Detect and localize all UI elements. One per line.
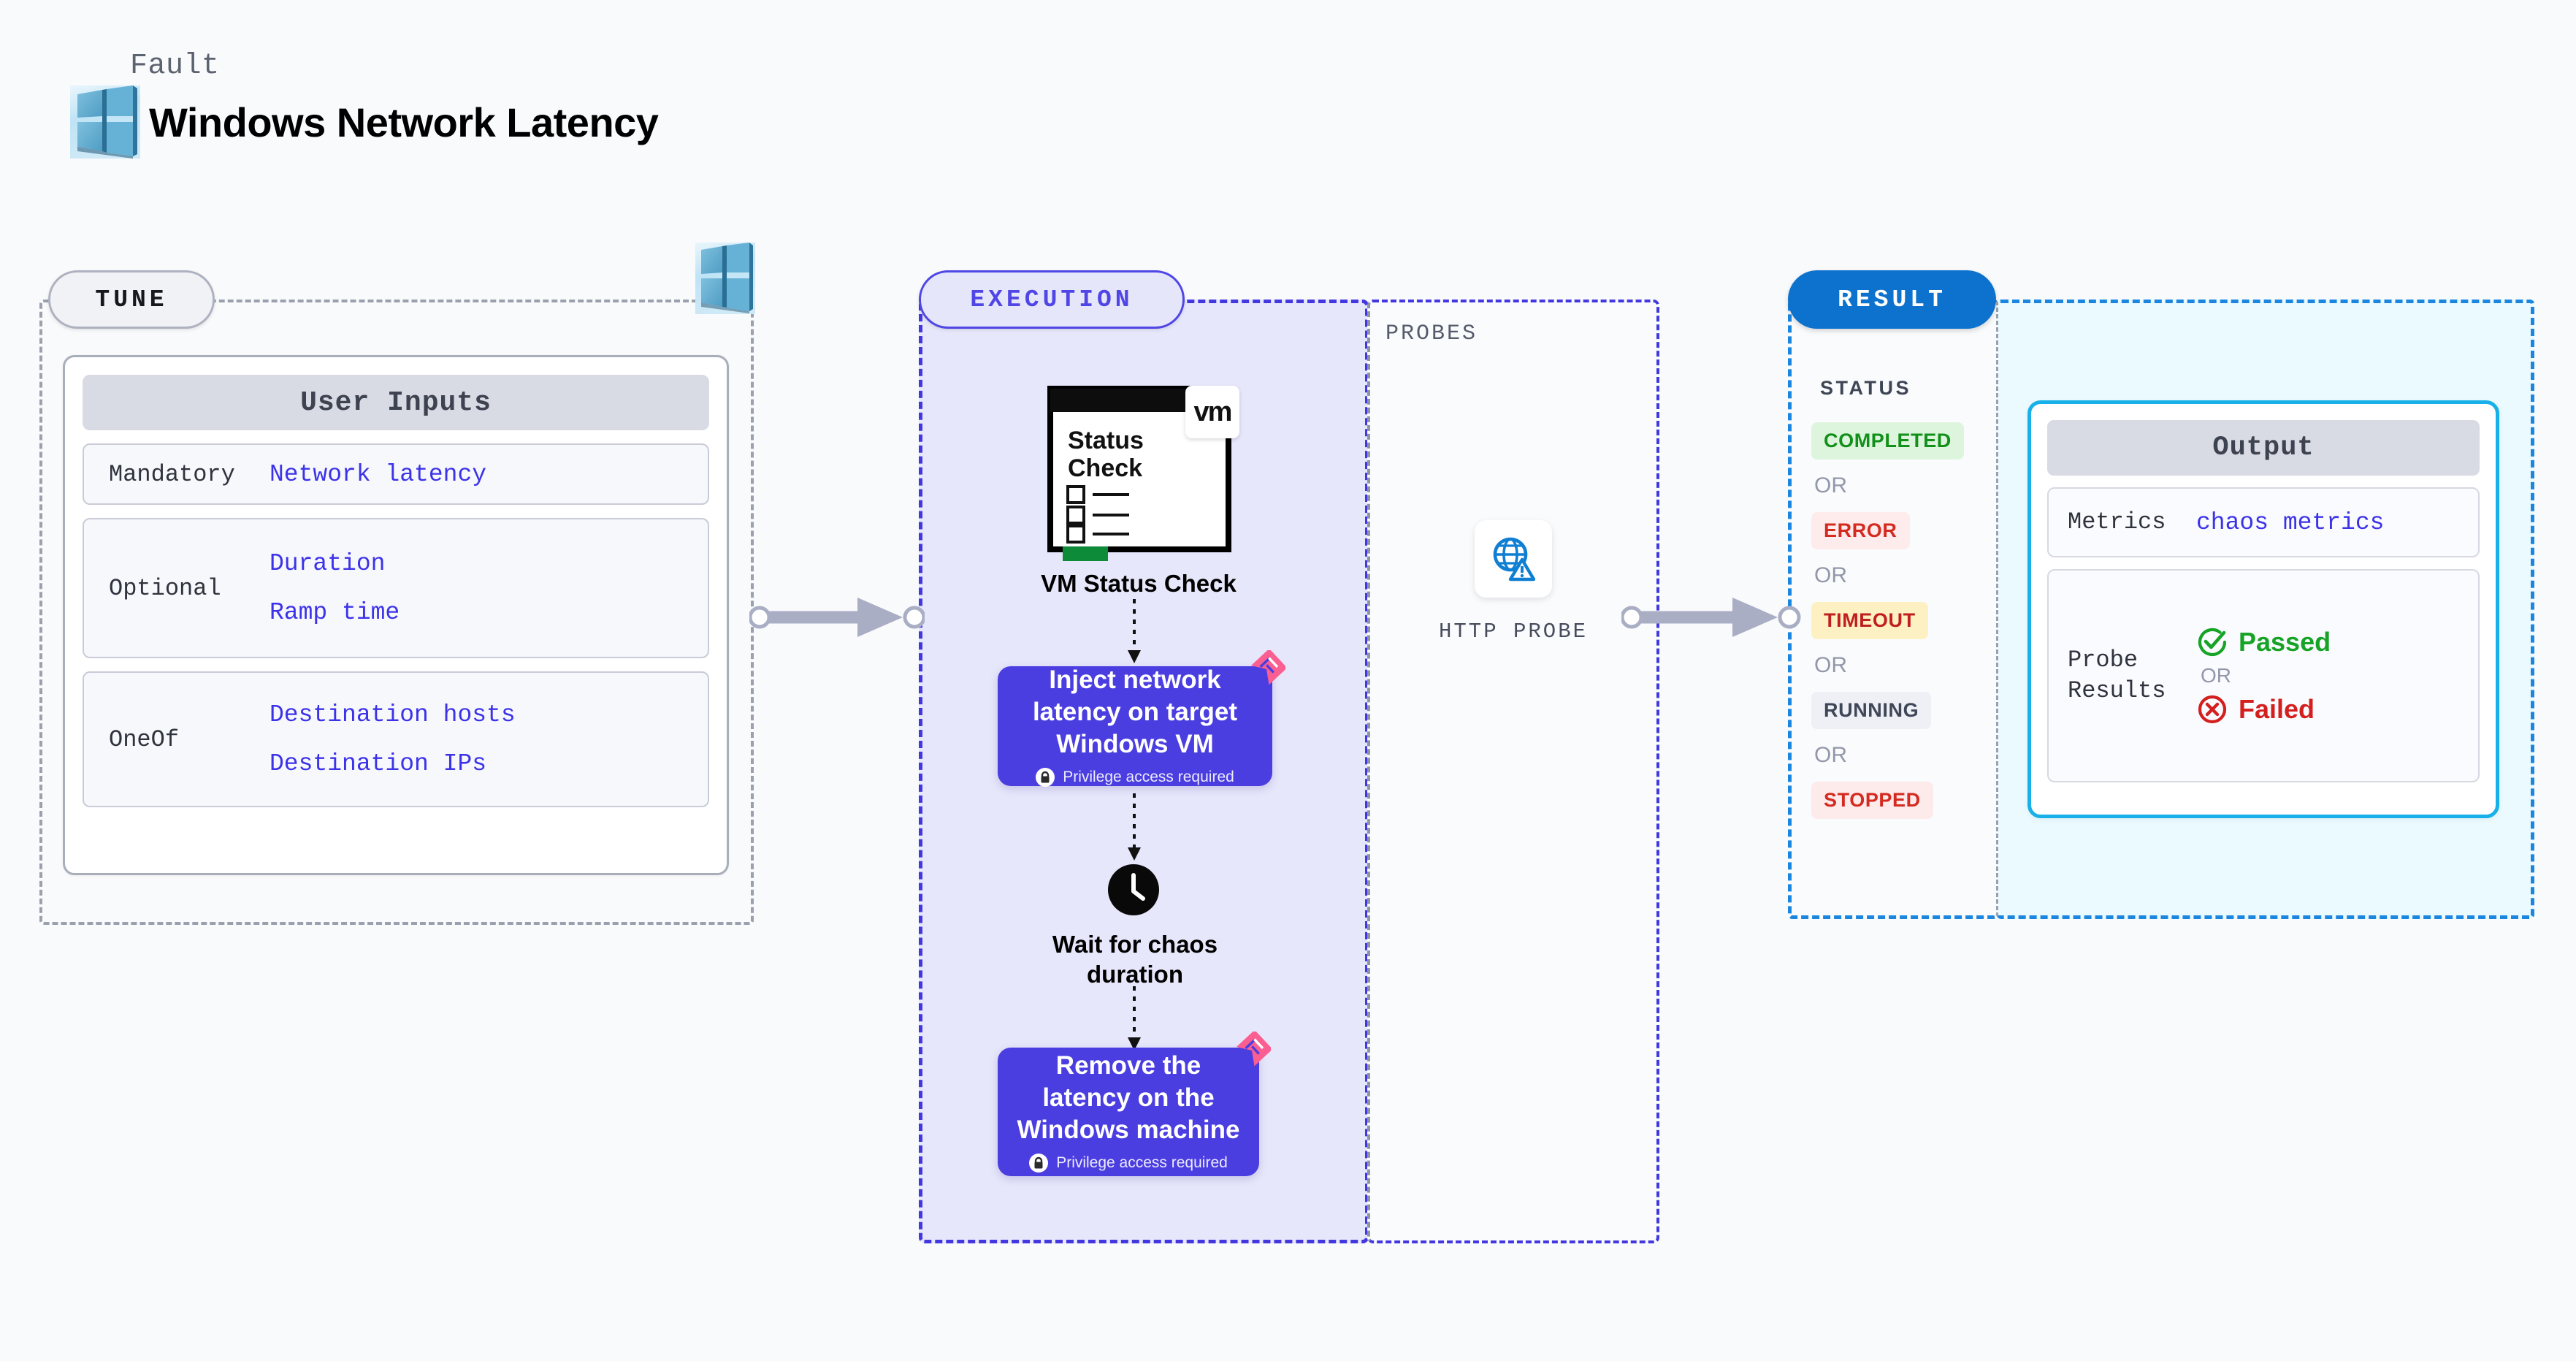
output-title: Output xyxy=(2047,420,2480,476)
vmware-vm-badge-icon: vm xyxy=(1185,386,1239,438)
svg-text:Status: Status xyxy=(1068,427,1144,454)
tune-row-optional: Optional Duration Ramp time xyxy=(83,518,709,658)
page-title: Windows Network Latency xyxy=(149,99,658,146)
result-badge[interactable]: RESULT xyxy=(1788,270,1996,329)
flow-arrow-1 xyxy=(1123,599,1145,666)
probes-title: PROBES xyxy=(1386,321,1478,346)
status-list: COMPLETED OR ERROR OR TIMEOUT OR RUNNING… xyxy=(1811,422,1994,819)
ribbon-tag-icon xyxy=(1247,650,1285,688)
green-status-bar xyxy=(1063,546,1108,561)
probes-panel xyxy=(1367,300,1659,1243)
privilege-row: Privilege access required xyxy=(1036,768,1234,787)
windows-logo-icon-tune xyxy=(695,243,755,314)
http-probe-icon-tile[interactable] xyxy=(1475,520,1552,598)
status-badge-stopped: STOPPED xyxy=(1811,782,1933,819)
node-label-wait-duration: Wait for chaos duration xyxy=(1004,929,1266,990)
title-row: Windows Network Latency xyxy=(70,84,658,160)
clock-icon xyxy=(1107,864,1160,916)
flow-arrow-3 xyxy=(1123,986,1145,1053)
row-value[interactable]: Duration xyxy=(270,550,400,577)
ribbon-tag-icon xyxy=(1233,1032,1271,1070)
page-header: Fault Windows N xyxy=(70,50,658,160)
output-label-metrics: Metrics xyxy=(2068,507,2196,538)
status-badge-error: ERROR xyxy=(1811,512,1910,549)
action-card-title: Remove the latency on the Windows machin… xyxy=(1017,1050,1240,1146)
status-badge-timeout: TIMEOUT xyxy=(1811,602,1928,639)
privilege-text: Privilege access required xyxy=(1063,769,1234,786)
or-separator: OR xyxy=(1814,473,1994,498)
probe-or-separator: OR xyxy=(2201,664,2331,687)
probes-to-result-arrow xyxy=(1621,592,1803,643)
action-card-remove-latency[interactable]: Remove the latency on the Windows machin… xyxy=(998,1048,1259,1176)
row-value[interactable]: Destination hosts xyxy=(270,701,516,728)
flow-arrow-2 xyxy=(1123,793,1145,864)
output-label-probe-results: Probe Results xyxy=(2068,645,2196,706)
row-label: OneOf xyxy=(109,726,270,753)
output-row-probe-results: Probe Results Passed OR Faile xyxy=(2047,569,2480,782)
fault-kicker-label: Fault xyxy=(130,50,658,83)
output-value-metrics[interactable]: chaos metrics xyxy=(2196,509,2384,536)
probe-passed-label: Passed xyxy=(2239,627,2331,657)
action-card-inject-latency[interactable]: Inject network latency on target Windows… xyxy=(998,666,1272,786)
status-badge-running: RUNNING xyxy=(1811,692,1931,729)
probe-failed-label: Failed xyxy=(2239,694,2315,725)
output-card: Output Metrics chaos metrics Probe Resul… xyxy=(2027,400,2499,818)
row-label: Mandatory xyxy=(109,461,270,488)
tune-row-mandatory: Mandatory Network latency xyxy=(83,443,709,505)
status-heading: STATUS xyxy=(1820,377,1911,400)
lock-icon xyxy=(1036,768,1055,787)
probe-result-passed: Passed xyxy=(2196,626,2331,658)
diagram-canvas: Fault Windows N xyxy=(0,0,2576,1361)
tune-badge[interactable]: TUNE xyxy=(48,270,215,329)
privilege-row: Privilege access required xyxy=(1029,1154,1228,1173)
node-label-vm-status-check: VM Status Check xyxy=(974,568,1303,598)
or-separator: OR xyxy=(1814,653,1994,678)
privilege-text: Privilege access required xyxy=(1056,1154,1228,1172)
status-badge-completed: COMPLETED xyxy=(1811,422,1964,460)
execution-badge[interactable]: EXECUTION xyxy=(919,270,1185,329)
windows-logo-icon xyxy=(70,84,140,160)
user-inputs-card: User Inputs Mandatory Network latency Op… xyxy=(63,355,729,875)
output-row-metrics: Metrics chaos metrics xyxy=(2047,487,2480,557)
probe-result-failed: Failed xyxy=(2196,693,2331,725)
row-label: Optional xyxy=(109,575,270,602)
svg-text:Check: Check xyxy=(1068,454,1142,482)
user-inputs-title: User Inputs xyxy=(83,375,709,430)
x-circle-icon xyxy=(2196,693,2228,725)
or-separator: OR xyxy=(1814,743,1994,768)
row-value[interactable]: Destination IPs xyxy=(270,750,516,777)
globe-warning-icon xyxy=(1488,533,1539,584)
row-value[interactable]: Ramp time xyxy=(270,599,400,626)
tune-to-execution-arrow xyxy=(749,592,925,643)
tune-row-oneof: OneOf Destination hosts Destination IPs xyxy=(83,671,709,807)
row-value[interactable]: Network latency xyxy=(270,461,486,488)
node-label-http-probe: HTTP PROBE xyxy=(1411,619,1616,644)
lock-icon xyxy=(1029,1154,1048,1173)
check-circle-icon xyxy=(2196,626,2228,658)
or-separator: OR xyxy=(1814,563,1994,588)
action-card-title: Inject network latency on target Windows… xyxy=(1017,664,1253,760)
